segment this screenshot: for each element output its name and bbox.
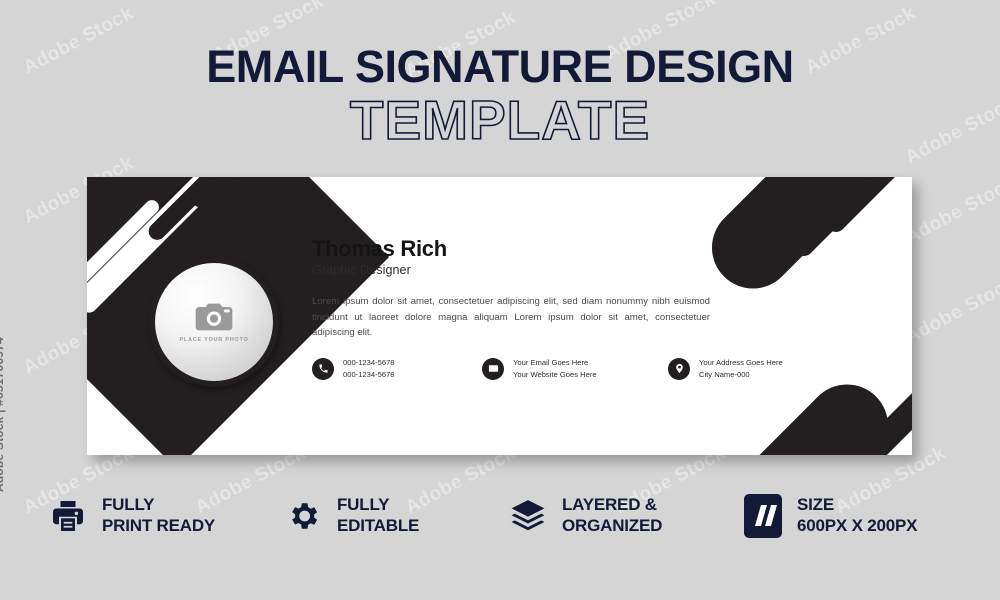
- page-title: EMAIL SIGNATURE DESIGN TEMPLATE: [0, 44, 1000, 148]
- feature-editable: FULLY EDITABLE: [283, 495, 508, 536]
- contact-email-line-2: Your Website Goes Here: [513, 370, 597, 379]
- email-signature-banner: PLACE YOUR PHOTO Thomas Rich Graphic Des…: [87, 177, 912, 455]
- layers-icon: [508, 496, 548, 536]
- avatar[interactable]: PLACE YOUR PHOTO: [149, 257, 279, 387]
- person-name: Thomas Rich: [312, 237, 832, 261]
- feature-layered-line-1: LAYERED &: [562, 495, 662, 516]
- contact-phone-text: 000-1234-5678 000-1234-5678: [343, 357, 395, 381]
- feature-list: FULLY PRINT READY FULLY EDITABLE LAYERED…: [48, 495, 958, 536]
- feature-print-ready-label: FULLY PRINT READY: [102, 495, 215, 536]
- contact-email-text: Your Email Goes Here Your Website Goes H…: [513, 357, 597, 381]
- feature-layered-label: LAYERED & ORGANIZED: [562, 495, 662, 536]
- contact-item-phone[interactable]: 000-1234-5678 000-1234-5678: [312, 357, 482, 381]
- contact-item-address[interactable]: Your Address Goes Here City Name-000: [668, 357, 783, 381]
- feature-size-line-2: 600px X 200px: [797, 516, 917, 537]
- printer-icon: [48, 496, 88, 536]
- feature-size: SIZE 600px X 200px: [743, 495, 917, 536]
- stock-credit: Adobe Stock | #651706974: [0, 337, 6, 492]
- feature-size-label: SIZE 600px X 200px: [797, 495, 917, 536]
- photo-placeholder-caption: PLACE YOUR PHOTO: [179, 337, 248, 343]
- contact-email-line-1: Your Email Goes Here: [513, 358, 588, 367]
- feature-layered-line-2: ORGANIZED: [562, 516, 662, 537]
- contact-row: 000-1234-5678 000-1234-5678 Your Email G…: [312, 357, 783, 381]
- contact-phone-line-2: 000-1234-5678: [343, 370, 395, 379]
- feature-editable-line-2: EDITABLE: [337, 516, 419, 537]
- feature-print-ready-line-1: FULLY: [102, 495, 215, 516]
- photo-placeholder[interactable]: PLACE YOUR PHOTO: [155, 263, 273, 381]
- person-bio: Lorem ipsum dolor sit amet, consectetuer…: [312, 294, 710, 341]
- feature-size-line-1: SIZE: [797, 495, 917, 516]
- feature-print-ready-line-2: PRINT READY: [102, 516, 215, 537]
- size-badge-icon: [743, 496, 783, 536]
- watermark-text: Adobe Stock: [902, 273, 1000, 350]
- location-pin-icon: [668, 358, 690, 380]
- title-line-1: EMAIL SIGNATURE DESIGN: [0, 44, 1000, 89]
- feature-layered: LAYERED & ORGANIZED: [508, 495, 743, 536]
- feature-print-ready: FULLY PRINT READY: [48, 495, 283, 536]
- contact-item-email[interactable]: Your Email Goes Here Your Website Goes H…: [482, 357, 668, 381]
- watermark-text: Adobe Stock: [902, 173, 1000, 250]
- gear-icon: [283, 496, 323, 536]
- contact-address-line-2: City Name-000: [699, 370, 750, 379]
- contact-address-text: Your Address Goes Here City Name-000: [699, 357, 783, 381]
- contact-address-line-1: Your Address Goes Here: [699, 358, 783, 367]
- feature-editable-label: FULLY EDITABLE: [337, 495, 419, 536]
- feature-editable-line-1: FULLY: [337, 495, 419, 516]
- signature-content: Thomas Rich Graphic Designer Lorem ipsum…: [312, 237, 832, 341]
- phone-icon: [312, 358, 334, 380]
- envelope-icon: [482, 358, 504, 380]
- person-role: Graphic Designer: [312, 263, 832, 277]
- title-line-2: TEMPLATE: [0, 93, 1000, 148]
- camera-icon: [194, 302, 234, 332]
- contact-phone-line-1: 000-1234-5678: [343, 358, 395, 367]
